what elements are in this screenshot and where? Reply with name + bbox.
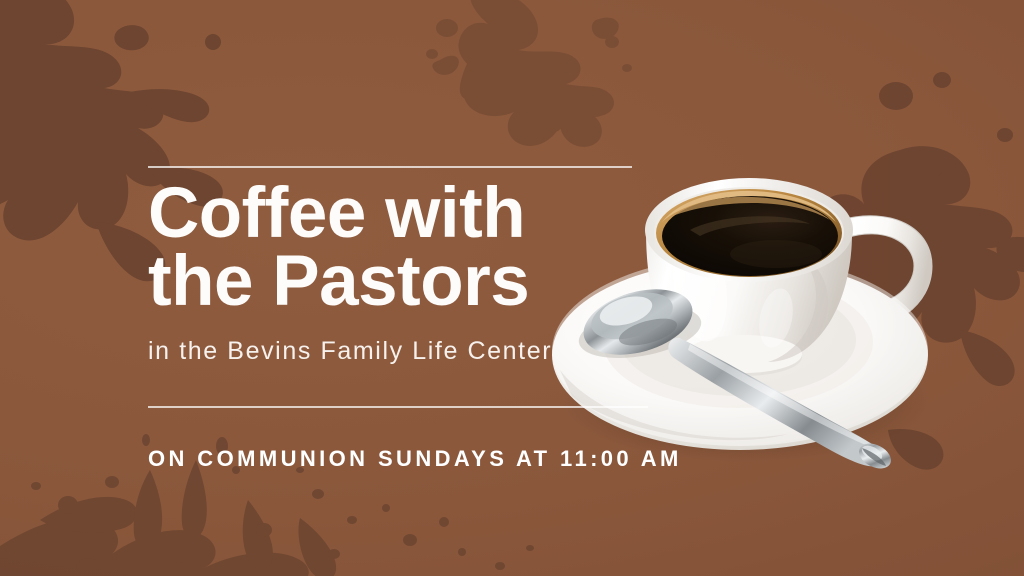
subtitle: in the Bevins Family Life Center (148, 316, 708, 366)
divider-rule-top (148, 166, 632, 168)
slide-canvas: Coffee with the Pastors in the Bevins Fa… (0, 0, 1024, 576)
event-tagline: ON COMMUNION SUNDAYS AT 11:00 AM (148, 446, 682, 472)
headline-block: Coffee with the Pastors in the Bevins Fa… (148, 180, 708, 366)
divider-rule-bottom (148, 406, 648, 408)
page-title: Coffee with the Pastors (148, 180, 708, 316)
